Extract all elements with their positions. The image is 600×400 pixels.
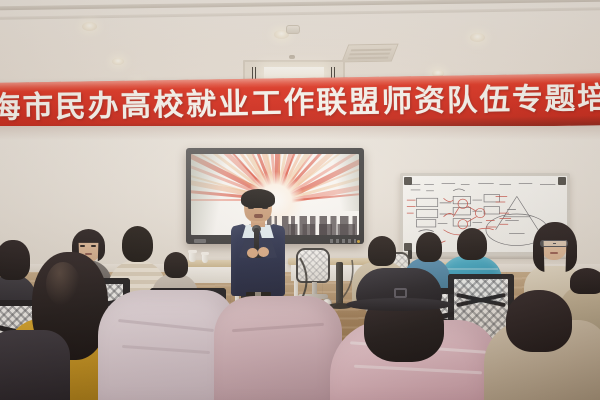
person-hair [457, 228, 487, 260]
person-body [0, 330, 70, 400]
person-hair [416, 232, 442, 262]
microphone [254, 228, 259, 250]
audience-member-rose-jacket [214, 296, 342, 400]
paper-cup [202, 254, 208, 263]
screen-glare-right [332, 154, 359, 211]
person-hair [506, 290, 572, 352]
smoke-detector-icon [286, 25, 300, 34]
ceiling-rail-secondary [0, 7, 600, 19]
person-eye-left [80, 245, 85, 247]
presenter-mouth [254, 214, 263, 218]
person-eye-right [91, 245, 96, 247]
wall-shadow [0, 126, 600, 140]
person-hair [368, 236, 396, 266]
city-skyline-foreground [288, 224, 355, 235]
person-hair [164, 252, 188, 278]
presenter-hand-left [247, 248, 258, 258]
audience-member-pink-puffer-with-hat [330, 264, 498, 400]
draped-jacket [214, 296, 342, 400]
hat-brim [346, 298, 452, 311]
classroom-photo: 上海市民办高校就业工作联盟师资队伍专题培训 [0, 0, 600, 400]
downlight-icon [470, 33, 485, 42]
presenter-hand-right [258, 247, 269, 257]
downlight-icon [112, 58, 124, 65]
glasses-bridge [553, 243, 556, 244]
person-mouth [550, 252, 558, 254]
person-hair-highlight [46, 262, 80, 306]
display-brand-logo [194, 239, 206, 243]
ac-vent [341, 44, 398, 63]
audience-member-left-foreground-shoulder [0, 330, 70, 400]
banner-text: 上海市民办高校就业工作联盟师资队伍专题培训 [0, 84, 600, 125]
sprinkler-icon [289, 55, 295, 59]
person-hair [122, 226, 153, 262]
presenter-hair [241, 189, 275, 208]
audience-member-far-right-foreground [484, 290, 600, 400]
downlight-icon [82, 22, 97, 31]
hat-buckle-icon [394, 288, 407, 298]
